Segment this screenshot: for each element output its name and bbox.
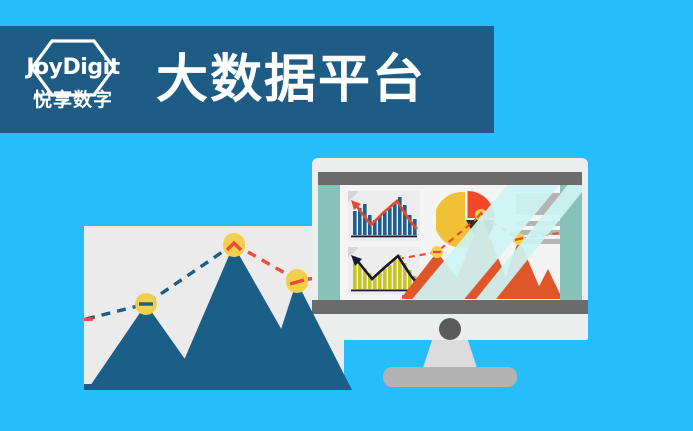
monitor-bottom-bar [312,300,588,314]
dashboard-canvas [340,185,560,300]
page-title: 大数据平台 [156,54,426,106]
monitor-top-bar [318,172,582,185]
monitor-screen [318,185,582,300]
desktop-monitor [312,158,588,340]
header-banner: JoyDigit 悦享数字 大数据平台 [0,26,494,133]
data-point-marker [223,233,245,255]
monitor-power-dot[interactable] [439,318,461,340]
mountain-shape-right [498,239,544,298]
trend-line-red-tail [84,319,93,320]
mountain-ground [402,295,560,299]
mountain-ground [84,384,344,390]
monitor-base [383,367,517,387]
data-point-marker [475,209,487,221]
brand-logo[interactable]: JoyDigit 悦享数字 [14,37,132,123]
mountain-line-chart-panel [84,226,344,390]
brand-subtitle: 悦享数字 [33,91,113,110]
orange-mountain-chart[interactable] [402,207,560,300]
brand-wordmark: JoyDigit [26,57,119,79]
illustration-stage: JoyDigit 悦享数字 大数据平台 [0,0,693,431]
left-panel-chart-svg [84,226,344,390]
